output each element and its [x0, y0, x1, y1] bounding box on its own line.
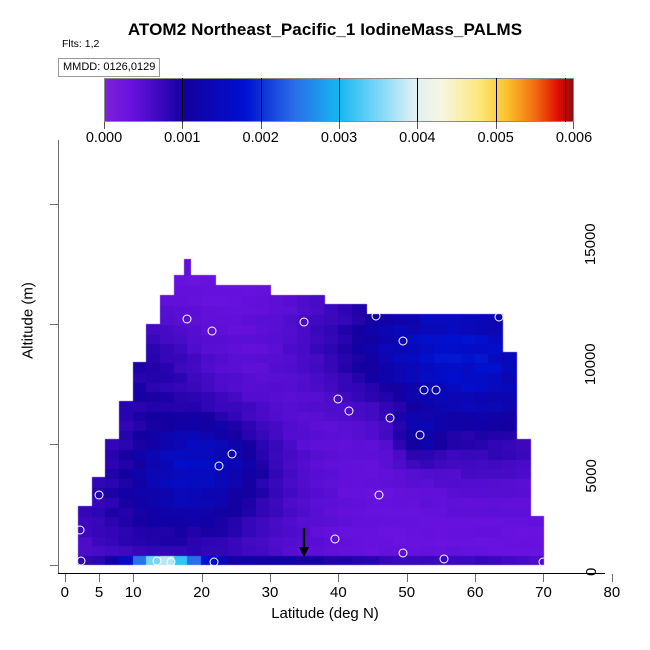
x-axis-tick	[270, 574, 271, 582]
y-axis-tick-label: 15000	[583, 223, 600, 265]
heatmap-raster	[58, 140, 605, 573]
mmdd-label: MMDD: 0126,0129	[58, 58, 160, 77]
colorbar-segment-line	[417, 78, 418, 122]
y-axis-tick	[50, 324, 58, 325]
x-axis-tick-label: 70	[535, 584, 552, 601]
x-axis-tick	[612, 574, 613, 582]
colorbar-tick	[496, 122, 497, 129]
colorbar-tick	[573, 122, 574, 129]
x-axis-tick-label: 5	[95, 584, 103, 601]
colorbar: 0.0000.0010.0020.0030.0040.0050.006	[104, 78, 574, 122]
x-axis-tick-label: 40	[330, 584, 347, 601]
x-axis-tick-label: 60	[467, 584, 484, 601]
y-axis-title: Altitude (m)	[20, 241, 37, 401]
colorbar-segment-line	[261, 78, 262, 122]
heatmap-canvas	[58, 140, 605, 573]
colorbar-tick	[104, 122, 105, 129]
x-axis-tick	[202, 574, 203, 582]
x-axis-tick-label: 30	[262, 584, 279, 601]
colorbar-segment-line	[339, 78, 340, 122]
x-axis-title: Latitude (deg N)	[0, 605, 650, 622]
flights-label: Flts: 1,2	[62, 38, 99, 50]
x-axis-tick-label: 80	[603, 584, 620, 601]
x-axis-tick-label: 20	[193, 584, 210, 601]
colorbar-segment-line	[182, 78, 183, 122]
x-axis-tick	[475, 574, 476, 582]
x-axis-tick-label: 50	[398, 584, 415, 601]
x-axis-tick	[338, 574, 339, 582]
x-axis-tick	[99, 574, 100, 582]
y-axis-tick	[50, 444, 58, 445]
x-axis-tick	[65, 574, 66, 582]
x-axis-tick	[407, 574, 408, 582]
colorbar-tick	[339, 122, 340, 129]
x-axis-tick	[543, 574, 544, 582]
plot-area: 050001000015000051020304050607080	[58, 140, 605, 573]
y-axis-tick-label: 5000	[583, 459, 600, 492]
y-axis-tick-label: 10000	[583, 343, 600, 385]
profile-marker-arrow	[298, 528, 311, 558]
y-axis-line	[58, 140, 59, 573]
colorbar-segment-line	[496, 78, 497, 122]
x-axis-tick-label: 0	[61, 584, 69, 601]
page-title: ATOM2 Northeast_Pacific_1 IodineMass_PAL…	[0, 20, 650, 40]
x-axis-line	[58, 573, 605, 574]
y-axis-tick-label: 0	[583, 567, 600, 575]
y-axis-tick	[50, 204, 58, 205]
y-axis-tick	[50, 565, 58, 566]
x-axis-tick-label: 10	[125, 584, 142, 601]
colorbar-segment-line	[565, 78, 566, 122]
x-axis-tick	[133, 574, 134, 582]
colorbar-tick	[417, 122, 418, 129]
colorbar-tick	[261, 122, 262, 129]
colorbar-tick	[182, 122, 183, 129]
